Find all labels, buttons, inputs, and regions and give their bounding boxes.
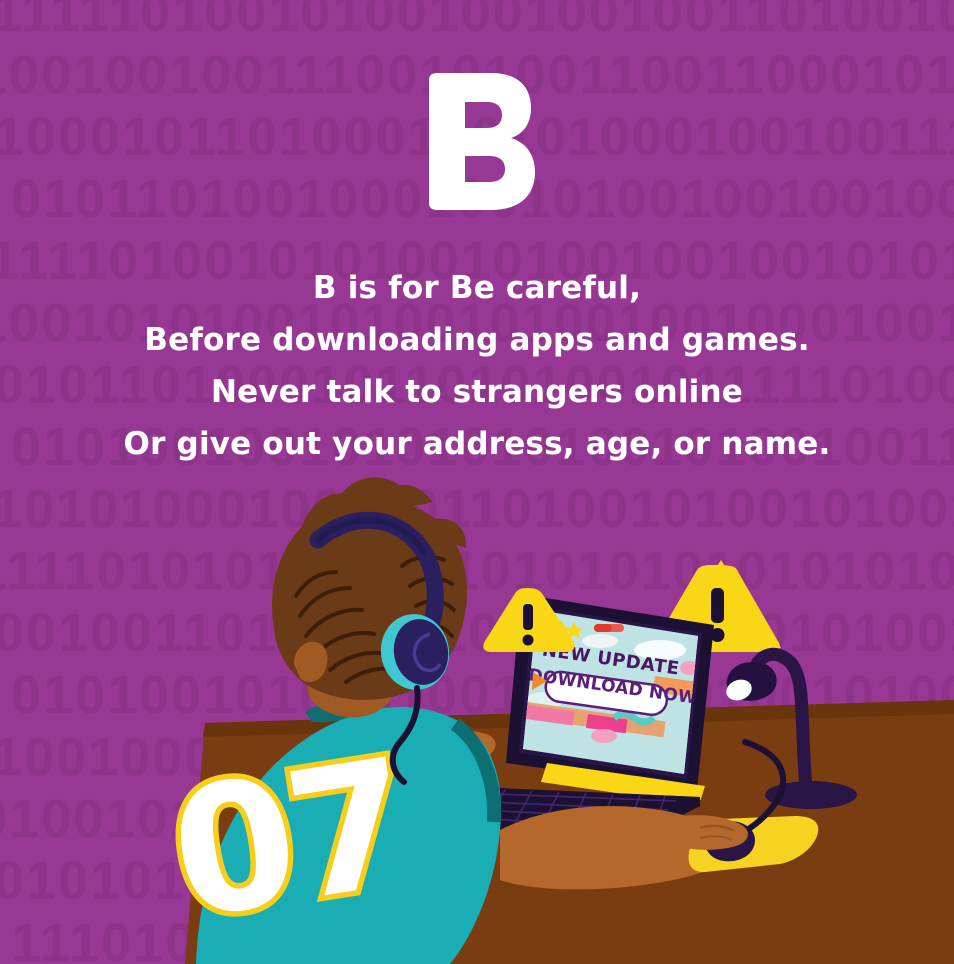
poem-line-1: B is for Be careful,: [0, 262, 954, 314]
svg-text:07: 07: [159, 722, 419, 959]
poem-line-3: Never talk to strangers online: [0, 366, 954, 418]
poster-canvas: 0111110100101001001001001101001010010010…: [0, 0, 954, 964]
poem-line-2: Before downloading apps and games.: [0, 314, 954, 366]
poem-block: B is for Be careful, Before downloading …: [0, 262, 954, 470]
jersey-number: 07: [159, 722, 419, 959]
letter-b-heading: [0, 72, 954, 217]
letter-b-glyph: [417, 72, 537, 212]
poem-line-4: Or give out your address, age, or name.: [0, 418, 954, 470]
